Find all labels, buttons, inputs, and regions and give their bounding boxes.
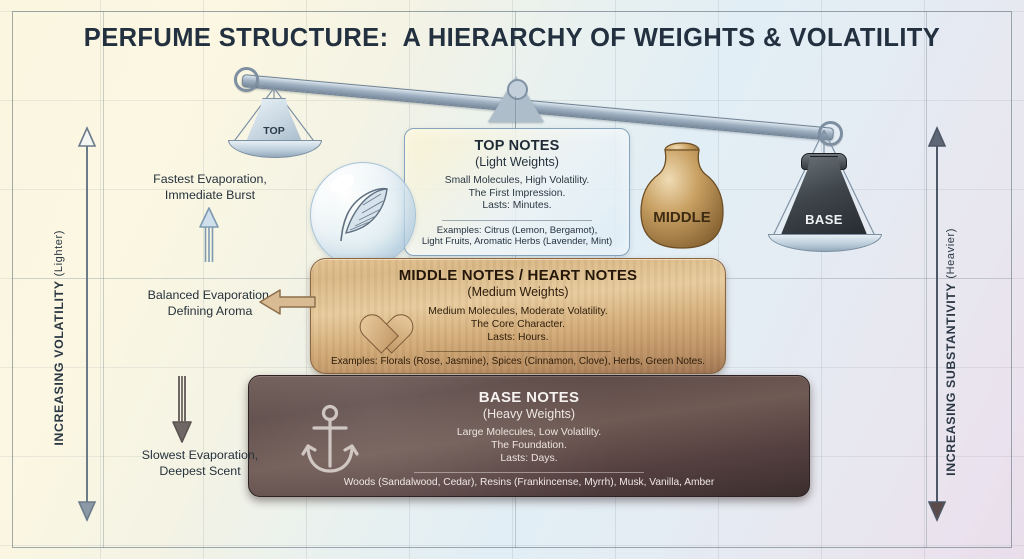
weight-middle-label: MIDDLE bbox=[653, 209, 711, 226]
tier-middle-examples: Examples: Florals (Rose, Jasmine), Spice… bbox=[311, 356, 725, 367]
annotation-top-line2: Immediate Burst bbox=[128, 188, 292, 204]
tier-top-details: Small Molecules, High Volatility. The Fi… bbox=[413, 175, 621, 213]
annotation-top-line1: Fastest Evaporation, bbox=[128, 172, 292, 188]
axis-left-arrow-icon bbox=[78, 126, 96, 522]
arrow-left-icon bbox=[258, 289, 316, 315]
infographic-canvas: PERFUME STRUCTURE: A HIERARCHY OF WEIGHT… bbox=[0, 0, 1024, 559]
axis-right-label: INCREASING SUBSTANTIVITY (Heavier) bbox=[944, 228, 958, 476]
anchor-icon bbox=[301, 404, 359, 476]
scale-pan-top: TOP bbox=[228, 88, 320, 158]
fulcrum-center-line bbox=[515, 96, 516, 132]
feather-icon bbox=[333, 183, 395, 249]
tier-top-examples-line1: Examples: Citrus (Lemon, Bergamot), bbox=[413, 225, 621, 237]
axis-right-sub: (Heavier) bbox=[945, 228, 957, 279]
tier-top-subtitle: (Light Weights) bbox=[413, 155, 621, 169]
weight-middle: MIDDLE bbox=[634, 140, 730, 262]
tier-top-line3: Lasts: Minutes. bbox=[413, 200, 621, 213]
tier-top-title: TOP NOTES bbox=[413, 138, 621, 154]
tier-top-divider bbox=[442, 220, 592, 221]
tier-top-line1: Small Molecules, High Volatility. bbox=[413, 175, 621, 188]
axis-left-sub: (Lighter) bbox=[53, 230, 65, 276]
page-title: PERFUME STRUCTURE: A HIERARCHY OF WEIGHT… bbox=[0, 24, 1024, 53]
annotation-base: Slowest Evaporation, Deepest Scent bbox=[112, 448, 288, 479]
arrow-down-icon bbox=[170, 376, 194, 444]
annotation-top: Fastest Evaporation, Immediate Burst bbox=[128, 172, 292, 203]
tier-base-divider bbox=[414, 472, 644, 473]
tier-top-examples-line2: Light Fruits, Aromatic Herbs (Lavender, … bbox=[413, 236, 621, 248]
annotation-base-line2: Deepest Scent bbox=[112, 464, 288, 480]
tier-middle-title: MIDDLE NOTES / HEART NOTES bbox=[311, 267, 725, 284]
grid-vline-left bbox=[103, 11, 104, 548]
axis-left-title: INCREASING VOLATILITY bbox=[52, 280, 66, 445]
fulcrum-pivot-icon bbox=[507, 79, 528, 100]
tier-card-middle[interactable]: MIDDLE NOTES / HEART NOTES (Medium Weigh… bbox=[310, 258, 726, 374]
grid-vline-right bbox=[926, 11, 927, 548]
tier-top-line2: The First Impression. bbox=[413, 188, 621, 201]
axis-right-title: INCREASING SUBSTANTIVITY bbox=[944, 283, 958, 476]
tier-middle-divider bbox=[426, 351, 611, 352]
tier-base-examples: Woods (Sandalwood, Cedar), Resins (Frank… bbox=[249, 477, 809, 488]
tier-card-top[interactable]: TOP NOTES (Light Weights) Small Molecule… bbox=[404, 128, 630, 256]
axis-left-label: INCREASING VOLATILITY (Lighter) bbox=[52, 230, 66, 446]
tier-card-base[interactable]: BASE NOTES (Heavy Weights) Large Molecul… bbox=[248, 375, 810, 497]
scale-pan-base: BASE bbox=[768, 130, 880, 252]
arrow-up-icon bbox=[197, 205, 221, 263]
annotation-base-line1: Slowest Evaporation, bbox=[112, 448, 288, 464]
feather-in-bubble-icon bbox=[310, 162, 416, 268]
tier-top-examples: Examples: Citrus (Lemon, Bergamot), Ligh… bbox=[413, 225, 621, 248]
heart-icon bbox=[351, 295, 397, 337]
